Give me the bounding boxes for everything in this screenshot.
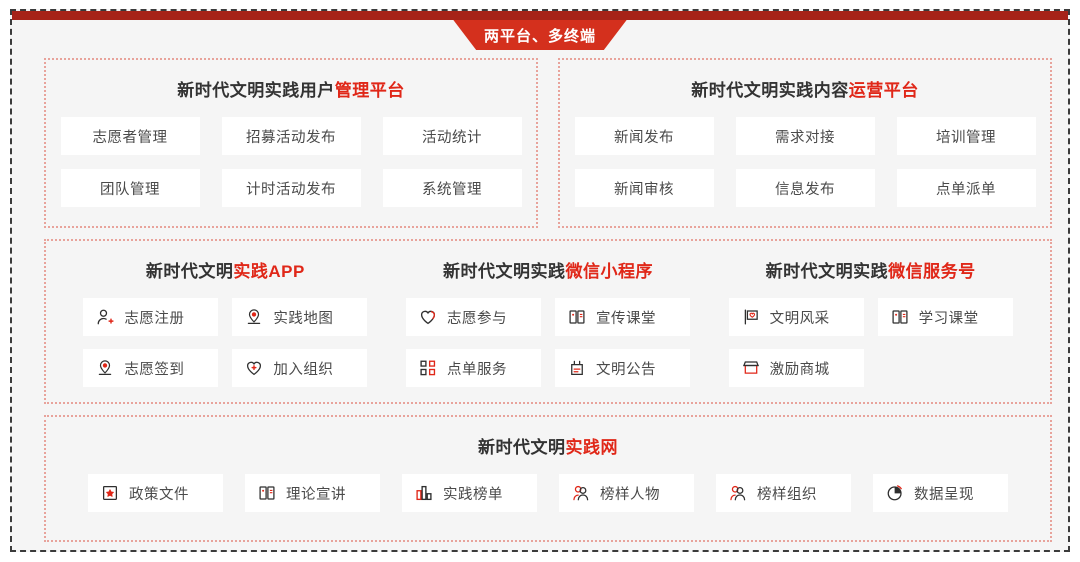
tile-policy-documents[interactable]: 政策文件: [88, 474, 223, 512]
tile-label: 点单派单: [936, 178, 996, 199]
flag-heart-icon: [742, 308, 760, 326]
order-service-icon: [419, 359, 437, 377]
open-book-icon: [568, 308, 586, 326]
panel-terminals: 新时代文明实践APP 志愿注册 实践地图: [44, 239, 1052, 404]
column-service-account: 新时代文明实践微信服务号 文明风采 学习课堂: [709, 241, 1032, 402]
tile-grid-service-account: 文明风采 学习课堂 激励商城: [729, 298, 1013, 387]
title-plain: 新时代文明实践: [766, 262, 889, 281]
tile-info-publish[interactable]: 信息发布: [736, 169, 875, 207]
tile-label: 计时活动发布: [246, 178, 336, 199]
panel-title-user-management: 新时代文明实践用户管理平台: [46, 76, 536, 101]
panel-title-content-operation: 新时代文明实践内容运营平台: [560, 76, 1050, 101]
tile-data-presentation[interactable]: 数据呈现: [873, 474, 1008, 512]
tile-volunteer-participation[interactable]: 志愿参与: [406, 298, 541, 336]
column-miniprogram: 新时代文明实践微信小程序 志愿参与 宣传课堂: [387, 241, 710, 402]
tile-volunteer-checkin[interactable]: 志愿签到: [83, 349, 218, 387]
two-people-icon: [572, 484, 590, 502]
tile-study-classroom[interactable]: 学习课堂: [878, 298, 1013, 336]
tile-label: 信息发布: [775, 178, 835, 199]
panel-user-management-platform: 新时代文明实践用户管理平台 志愿者管理 招募活动发布 活动统计 团队管理 计时活…: [44, 58, 538, 228]
tile-label: 文明风采: [770, 307, 830, 328]
tile-practice-map[interactable]: 实践地图: [232, 298, 367, 336]
column-title-miniprogram: 新时代文明实践微信小程序: [443, 257, 653, 282]
title-highlight: 实践网: [566, 438, 619, 457]
tile-label: 点单服务: [447, 358, 507, 379]
title-plain: 新时代文明实践: [443, 262, 566, 281]
title-plain: 新时代文明: [146, 262, 234, 281]
terminal-columns: 新时代文明实践APP 志愿注册 实践地图: [46, 241, 1050, 402]
tile-label: 志愿签到: [124, 358, 184, 379]
title-plain: 新时代文明实践用户: [177, 81, 335, 100]
column-title-app: 新时代文明实践APP: [146, 257, 305, 282]
tile-label: 志愿注册: [124, 307, 184, 328]
tile-grid-practice-web: 政策文件 理论宣讲 实践榜单 榜样人物: [46, 474, 1050, 512]
two-people-icon: [729, 484, 747, 502]
tile-demand-matching[interactable]: 需求对接: [736, 117, 875, 155]
open-book-icon: [258, 484, 276, 502]
pie-chart-icon: [886, 484, 904, 502]
tile-label: 实践地图: [273, 307, 333, 328]
tile-label: 需求对接: [775, 126, 835, 147]
open-book-icon: [891, 308, 909, 326]
tile-label: 学习课堂: [919, 307, 979, 328]
tile-theory-lecture[interactable]: 理论宣讲: [245, 474, 380, 512]
title-plain: 新时代文明: [478, 438, 566, 457]
tile-activity-statistics[interactable]: 活动统计: [383, 117, 522, 155]
tile-grid-user-management: 志愿者管理 招募活动发布 活动统计 团队管理 计时活动发布 系统管理: [46, 117, 536, 207]
tile-news-review[interactable]: 新闻审核: [575, 169, 714, 207]
tile-label: 激励商城: [770, 358, 830, 379]
document-star-icon: [101, 484, 119, 502]
tile-news-publish[interactable]: 新闻发布: [575, 117, 714, 155]
map-pin-icon: [245, 308, 263, 326]
title-highlight: 管理平台: [335, 81, 405, 100]
tile-label: 实践榜单: [443, 483, 503, 504]
tile-grid-content-operation: 新闻发布 需求对接 培训管理 新闻审核 信息发布 点单派单: [560, 117, 1050, 207]
title-highlight: 运营平台: [849, 81, 919, 100]
tile-practice-ranking[interactable]: 实践榜单: [402, 474, 537, 512]
tile-label: 系统管理: [422, 178, 482, 199]
title-plain: 新时代文明实践内容: [691, 81, 849, 100]
tile-label: 加入组织: [273, 358, 333, 379]
column-title-service-account: 新时代文明实践微信服务号: [766, 257, 976, 282]
tile-volunteer-registration[interactable]: 志愿注册: [83, 298, 218, 336]
announcement-icon: [568, 359, 586, 377]
user-add-icon: [96, 308, 114, 326]
tile-grid-app: 志愿注册 实践地图 志愿签到: [83, 298, 367, 387]
heart-icon: [419, 308, 437, 326]
tile-label: 榜样人物: [600, 483, 660, 504]
tile-label: 新闻审核: [614, 178, 674, 199]
title-highlight: 实践APP: [233, 262, 304, 281]
tile-role-model-person[interactable]: 榜样人物: [559, 474, 694, 512]
panel-practice-web: 新时代文明实践网 政策文件 理论宣讲 实践榜单: [44, 415, 1052, 542]
title-highlight: 微信服务号: [888, 262, 976, 281]
bar-chart-icon: [415, 484, 433, 502]
tile-label: 志愿者管理: [93, 126, 168, 147]
tile-recruit-activity-publish[interactable]: 招募活动发布: [222, 117, 361, 155]
title-highlight: 微信小程序: [566, 262, 654, 281]
panel-content-operation-platform: 新时代文明实践内容运营平台 新闻发布 需求对接 培训管理 新闻审核 信息发布 点…: [558, 58, 1052, 228]
panel-title-practice-web: 新时代文明实践网: [46, 433, 1050, 458]
tile-system-management[interactable]: 系统管理: [383, 169, 522, 207]
tile-label: 宣传课堂: [596, 307, 656, 328]
tile-order-dispatch[interactable]: 点单派单: [897, 169, 1036, 207]
tile-role-model-organization[interactable]: 榜样组织: [716, 474, 851, 512]
tile-publicity-classroom[interactable]: 宣传课堂: [555, 298, 690, 336]
tile-label: 榜样组织: [757, 483, 817, 504]
tile-training-management[interactable]: 培训管理: [897, 117, 1036, 155]
column-app: 新时代文明实践APP 志愿注册 实践地图: [64, 241, 387, 402]
tile-label: 招募活动发布: [246, 126, 336, 147]
tile-incentive-mall[interactable]: 激励商城: [729, 349, 864, 387]
diagram-frame: 两平台、多终端 新时代文明实践用户管理平台 志愿者管理 招募活动发布 活动统计 …: [10, 9, 1070, 552]
tile-civilization-announcement[interactable]: 文明公告: [555, 349, 690, 387]
tile-label: 培训管理: [936, 126, 996, 147]
tile-label: 活动统计: [422, 126, 482, 147]
tile-label: 理论宣讲: [286, 483, 346, 504]
tile-label: 文明公告: [596, 358, 656, 379]
tile-label: 志愿参与: [447, 307, 507, 328]
tile-team-management[interactable]: 团队管理: [61, 169, 200, 207]
shop-icon: [742, 359, 760, 377]
tile-civilization-style[interactable]: 文明风采: [729, 298, 864, 336]
tile-label: 团队管理: [100, 178, 160, 199]
map-pin-icon: [96, 359, 114, 377]
heart-plus-icon: [245, 359, 263, 377]
tile-join-organization[interactable]: 加入组织: [232, 349, 367, 387]
tile-order-service[interactable]: 点单服务: [406, 349, 541, 387]
tile-label: 政策文件: [129, 483, 189, 504]
tile-timed-activity-publish[interactable]: 计时活动发布: [222, 169, 361, 207]
tile-label: 新闻发布: [614, 126, 674, 147]
banner-ribbon: 两平台、多终端: [426, 20, 654, 50]
tile-volunteer-management[interactable]: 志愿者管理: [61, 117, 200, 155]
tile-grid-miniprogram: 志愿参与 宣传课堂 点单服务: [406, 298, 690, 387]
top-red-bar: [12, 11, 1068, 20]
banner-title: 两平台、多终端: [484, 25, 596, 46]
tile-label: 数据呈现: [914, 483, 974, 504]
